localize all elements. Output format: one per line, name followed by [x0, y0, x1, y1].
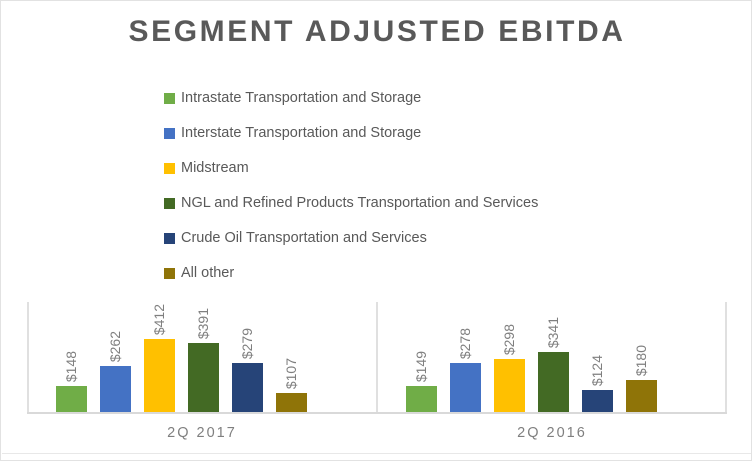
legend-item-label: Crude Oil Transportation and Services	[181, 231, 427, 246]
legend-item[interactable]: Intrastate Transportation and Storage	[164, 81, 684, 116]
bar-value-label: $124	[582, 355, 613, 386]
bar-slot: $412	[140, 302, 184, 412]
legend-swatch-icon	[164, 163, 175, 174]
legend-swatch-icon	[164, 198, 175, 209]
bar-group-bars: $148$262$412$391$279$107	[27, 302, 377, 412]
legend-swatch-icon	[164, 128, 175, 139]
legend-swatch-icon	[164, 93, 175, 104]
bar-slot: $148	[52, 302, 96, 412]
chart-title: SEGMENT ADJUSTED EBITDA	[1, 15, 752, 49]
bar-group: $149$278$298$341$124$180	[377, 302, 727, 412]
bar-slot: $180	[622, 302, 666, 412]
bar-slot: $298	[490, 302, 534, 412]
bar[interactable]	[276, 393, 307, 412]
chart-container: SEGMENT ADJUSTED EBITDA Intrastate Trans…	[0, 0, 752, 461]
legend-swatch-icon	[164, 233, 175, 244]
bar[interactable]	[56, 386, 87, 412]
bar[interactable]	[406, 386, 437, 412]
bar-slot: $149	[402, 302, 446, 412]
bar-group: $148$262$412$391$279$107	[27, 302, 377, 412]
bar-value-label: $180	[626, 345, 657, 376]
bar-value-label: $148	[56, 351, 87, 382]
bar-value-label: $391	[188, 308, 219, 339]
legend-item[interactable]: Crude Oil Transportation and Services	[164, 221, 684, 256]
bar-value-label: $107	[276, 358, 307, 389]
legend-item-label: Interstate Transportation and Storage	[181, 126, 421, 141]
category-label: 2Q 2017	[27, 425, 377, 441]
bar-value-label: $278	[450, 328, 481, 359]
legend-swatch-icon	[164, 268, 175, 279]
bar[interactable]	[188, 343, 219, 412]
bar-groups: $148$262$412$391$279$107$149$278$298$341…	[27, 302, 727, 412]
bar[interactable]	[494, 359, 525, 412]
legend-item[interactable]: NGL and Refined Products Transportation …	[164, 186, 684, 221]
category-label: 2Q 2016	[377, 425, 727, 441]
bar-slot: $107	[272, 302, 316, 412]
bar-value-label: $279	[232, 328, 263, 359]
legend-item-label: All other	[181, 266, 234, 281]
bar-group-bars: $149$278$298$341$124$180	[377, 302, 727, 412]
bar[interactable]	[232, 363, 263, 412]
bar-value-label: $341	[538, 317, 569, 348]
legend-item[interactable]: All other	[164, 256, 684, 291]
legend-item[interactable]: Interstate Transportation and Storage	[164, 116, 684, 151]
legend-item-label: Midstream	[181, 161, 249, 176]
bar[interactable]	[144, 339, 175, 412]
chart-legend: Intrastate Transportation and StorageInt…	[164, 81, 684, 291]
bar[interactable]	[100, 366, 131, 412]
legend-item-label: NGL and Refined Products Transportation …	[181, 196, 538, 211]
bar-slot: $391	[184, 302, 228, 412]
bar[interactable]	[626, 380, 657, 412]
bar[interactable]	[538, 352, 569, 412]
x-axis-line	[27, 412, 727, 414]
legend-item[interactable]: Midstream	[164, 151, 684, 186]
bar-value-label: $149	[406, 351, 437, 382]
bottom-divider	[2, 453, 752, 454]
bar-slot: $278	[446, 302, 490, 412]
bar-slot: $262	[96, 302, 140, 412]
bar-slot: $341	[534, 302, 578, 412]
bar[interactable]	[582, 390, 613, 412]
bar-slot: $279	[228, 302, 272, 412]
bar-slot: $124	[578, 302, 622, 412]
bar-value-label: $298	[494, 324, 525, 355]
category-axis-labels: 2Q 20172Q 2016	[27, 425, 727, 441]
bar-value-label: $412	[144, 304, 175, 335]
bar[interactable]	[450, 363, 481, 412]
bar-value-label: $262	[100, 331, 131, 362]
plot-area: $148$262$412$391$279$107$149$278$298$341…	[27, 302, 727, 413]
legend-item-label: Intrastate Transportation and Storage	[181, 91, 421, 106]
